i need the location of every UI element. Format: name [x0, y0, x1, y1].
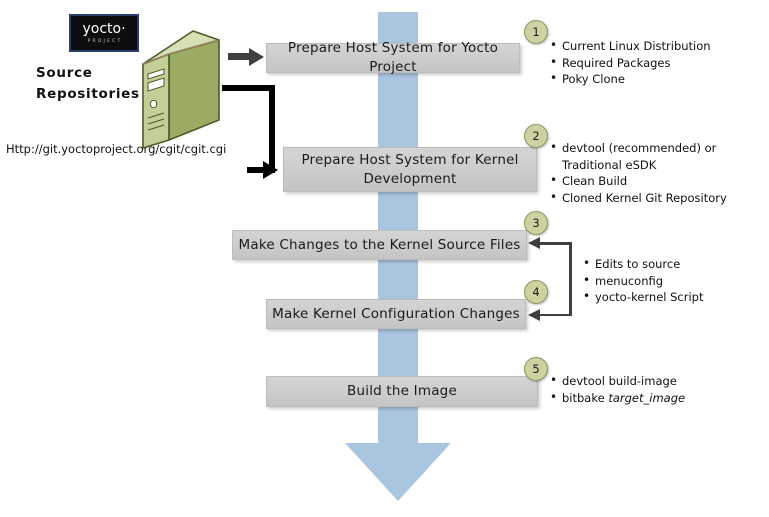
logo-subtext: PROJECT — [88, 38, 123, 45]
arrowhead-server-to-step1 — [249, 48, 264, 66]
bitbake-target-argument: target_image — [608, 391, 685, 405]
step-number-4: 4 — [524, 280, 548, 304]
step-box-3[interactable]: Make Changes to the Kernel Source Files — [232, 230, 527, 260]
step-box-4[interactable]: Make Kernel Configuration Changes — [266, 299, 526, 329]
list-item: Cloned Kernel Git Repository — [550, 190, 764, 207]
step5-bullet-list: devtool build-image bitbake target_image — [550, 373, 764, 406]
logo-dot: · — [121, 21, 125, 37]
bitbake-command: bitbake — [562, 391, 608, 405]
step-box-5[interactable]: Build the Image — [266, 376, 538, 407]
list-item: bitbake target_image — [550, 390, 764, 407]
logo-wordmark: yocto· — [82, 22, 125, 37]
arrowhead-server-to-step2 — [263, 161, 278, 179]
list-item: Poky Clone — [550, 71, 764, 88]
logo-text: yocto — [82, 21, 121, 37]
list-item: menuconfig — [583, 273, 763, 290]
source-label-line1: Source — [36, 63, 146, 84]
list-item: devtool build-image — [550, 373, 764, 390]
step-number-3: 3 — [524, 211, 548, 235]
list-item: Required Packages — [550, 55, 764, 72]
list-item: Current Linux Distribution — [550, 38, 764, 55]
step-box-2[interactable]: Prepare Host System for Kernel Developme… — [283, 147, 537, 192]
source-repositories-label: Source Repositories — [36, 63, 146, 105]
list-item: devtool (recommended) or Traditional eSD… — [550, 140, 764, 173]
list-item: Edits to source — [583, 256, 763, 273]
list-item: yocto-kernel Script — [583, 289, 763, 306]
step-number-1: 1 — [524, 20, 548, 44]
step34-shared-bullet-list: Edits to source menuconfig yocto-kernel … — [583, 256, 763, 306]
step1-bullet-list: Current Linux Distribution Required Pack… — [550, 38, 764, 88]
step-number-5: 5 — [524, 357, 548, 381]
feedback-bracket-to-step4 — [540, 314, 571, 317]
list-item: Clean Build — [550, 173, 764, 190]
flow-arrow-head — [345, 443, 451, 501]
step-number-2: 2 — [524, 124, 548, 148]
feedback-bracket-to-step3 — [540, 242, 571, 245]
diagram-canvas: yocto· PROJECT Source Repositories Http:… — [0, 0, 769, 517]
arrowhead-to-step4 — [528, 309, 540, 321]
feedback-bracket-vertical — [569, 242, 572, 316]
step-box-1[interactable]: Prepare Host System for Yocto Project — [266, 43, 520, 73]
yocto-project-logo: yocto· PROJECT — [69, 14, 139, 52]
server-tower-icon — [131, 28, 231, 150]
step2-bullet-list: devtool (recommended) or Traditional eSD… — [550, 140, 764, 206]
connector-server-to-step2-horizontal — [222, 85, 275, 91]
source-label-line2: Repositories — [36, 84, 146, 105]
arrowhead-to-step3 — [528, 237, 540, 249]
connector-server-to-step2-vertical — [269, 85, 275, 170]
